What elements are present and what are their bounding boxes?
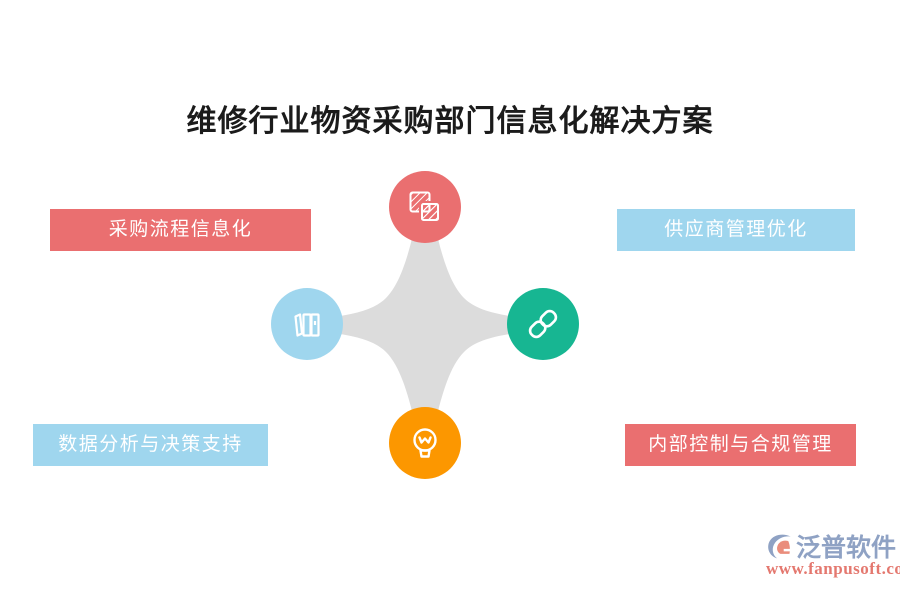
slide-canvas: 维修行业物资采购部门信息化解决方案 <box>0 0 900 600</box>
label-internal-control[interactable]: 内部控制与合规管理 <box>625 424 856 466</box>
node-supplier-management[interactable] <box>507 288 579 360</box>
label-supplier-management[interactable]: 供应商管理优化 <box>617 209 855 251</box>
node-internal-control[interactable] <box>389 407 461 479</box>
lightbulb-icon <box>408 426 442 460</box>
label-text: 内部控制与合规管理 <box>648 434 833 455</box>
label-text: 采购流程信息化 <box>109 219 253 240</box>
chain-link-icon <box>525 306 561 342</box>
label-text: 数据分析与决策支持 <box>58 434 243 455</box>
watermark: 泛普软件 www.fanpusoft.com <box>766 528 890 590</box>
documents-copy-icon <box>408 190 442 224</box>
central-diagram <box>268 168 582 482</box>
fanpu-logo-icon <box>766 532 794 560</box>
label-procurement-process[interactable]: 采购流程信息化 <box>50 209 311 251</box>
label-text: 供应商管理优化 <box>664 219 808 240</box>
books-archive-icon <box>290 307 324 341</box>
node-procurement-process[interactable] <box>389 171 461 243</box>
node-data-analysis[interactable] <box>271 288 343 360</box>
label-data-analysis[interactable]: 数据分析与决策支持 <box>33 424 268 466</box>
watermark-url-text: www.fanpusoft.com <box>766 559 900 579</box>
page-title: 维修行业物资采购部门信息化解决方案 <box>0 96 900 140</box>
